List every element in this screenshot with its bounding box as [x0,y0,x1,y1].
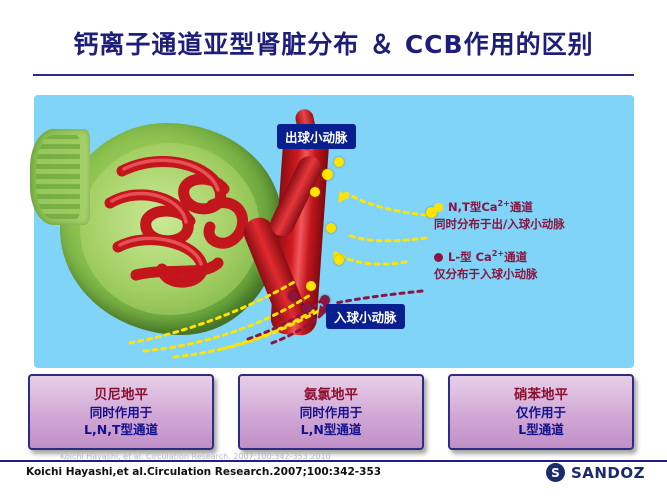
title-divider [33,74,634,76]
nt-channel-dot [310,187,320,197]
nt-channel-dot [306,281,316,291]
l-channel-dot [302,303,312,313]
drug-action-line1: 同时作用于 [300,404,363,421]
kidney-diagram-panel: 出球小动脉 入球小动脉 N,T型Ca2+通道 同时分布于出/入球小动脉 L-型 … [34,95,634,368]
drug-action-line2: L,N,T型通道 [84,421,158,438]
legend: N,T型Ca2+通道 同时分布于出/入球小动脉 L-型 Ca2+通道 仅分布于入… [434,195,624,295]
brand-name: SANDOZ [571,464,645,482]
drug-action-line1: 仅作用于 [516,404,566,421]
nt-channel-dot [322,169,333,180]
legend-item-nt: N,T型Ca2+通道 同时分布于出/入球小动脉 [434,195,624,233]
legend-nt-line2: 同时分布于出/入球小动脉 [434,216,624,233]
drug-name: 硝苯地平 [514,387,568,404]
l-channel-dot [288,291,298,301]
footer-divider [0,460,667,462]
legend-l-line2: 仅分布于入球小动脉 [434,266,624,283]
label-efferent-arteriole: 出球小动脉 [277,124,356,149]
nt-channel-dot [334,157,344,167]
drug-box-amlodipine: 氨氯地平 同时作用于 L,N型通道 [238,374,424,450]
drug-name: 氨氯地平 [304,387,358,404]
legend-dot-icon [434,203,443,212]
legend-dot-icon [434,253,443,262]
nt-channel-dot [326,223,336,233]
legend-item-l: L-型 Ca2+通道 仅分布于入球小动脉 [434,245,624,283]
legend-nt-sup: 2+ [498,199,510,208]
legend-l-line1b: 通道 [504,250,527,264]
drug-box-nifedipine: 硝苯地平 仅作用于 L型通道 [448,374,634,450]
drug-action-line2: L型通道 [518,421,563,438]
legend-l-line1: L-型 Ca [448,250,492,264]
drug-action-line2: L,N型通道 [301,421,362,438]
drug-box-row: 贝尼地平 同时作用于 L,N,T型通道 氨氯地平 同时作用于 L,N型通道 硝苯… [26,374,641,454]
label-afferent-arteriole: 入球小动脉 [326,304,405,329]
page-title: 钙离子通道亚型肾脏分布 ＆ CCB作用的区别 [73,25,593,61]
drug-action-line1: 同时作用于 [90,404,153,421]
brand-logo: S SANDOZ [546,463,645,482]
legend-nt-line1: N,T型Ca [448,200,498,214]
legend-l-sup: 2+ [492,249,504,258]
slide-root: 钙离子通道亚型肾脏分布 ＆ CCB作用的区别 [0,0,667,500]
nt-channel-dot [334,255,344,265]
drug-box-benidipine: 贝尼地平 同时作用于 L,N,T型通道 [28,374,214,450]
title-bar: 钙离子通道亚型肾脏分布 ＆ CCB作用的区别 [0,14,667,72]
citation-text: Koichi Hayashi,et al.Circulation Researc… [26,466,381,478]
sandoz-mark-icon: S [546,463,565,482]
drug-name: 贝尼地平 [94,387,148,404]
legend-nt-line1b: 通道 [510,200,533,214]
